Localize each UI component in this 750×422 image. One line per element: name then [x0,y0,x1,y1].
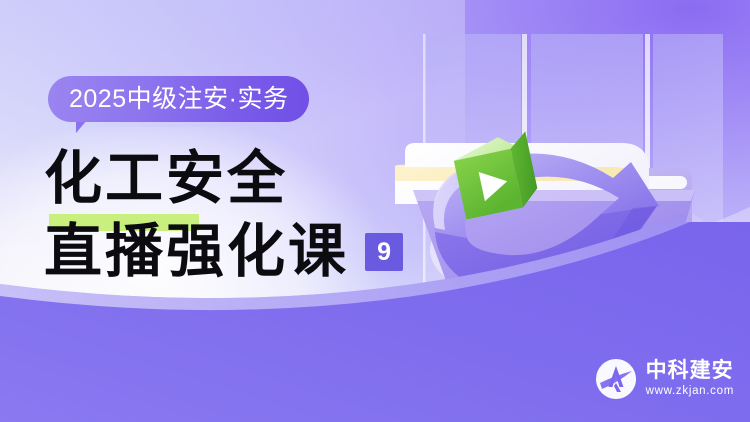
zkjan-logo-icon [595,358,637,400]
course-banner: 2025中级注安·实务 化工安全 直播强化课 9 中科建安 www.zkjan.… [0,0,750,422]
brand-name: 中科建安 [646,360,734,381]
title-line-2-row: 直播强化课 9 [44,221,403,282]
folder-tab-slot [643,176,687,189]
course-category-label: 2025中级注安·实务 [69,87,288,112]
course-category-badge: 2025中级注安·实务 [48,76,309,122]
episode-number-badge: 9 [365,233,403,271]
title-block: 化工安全 直播强化课 9 [44,148,403,283]
title-line-2: 直播强化课 [44,221,349,282]
brand-logo-text: 中科建安 www.zkjan.com [646,360,734,398]
brand-url: www.zkjan.com [646,386,734,398]
brand-logo: 中科建安 www.zkjan.com [595,358,734,400]
title-line-1: 化工安全 [44,148,403,209]
